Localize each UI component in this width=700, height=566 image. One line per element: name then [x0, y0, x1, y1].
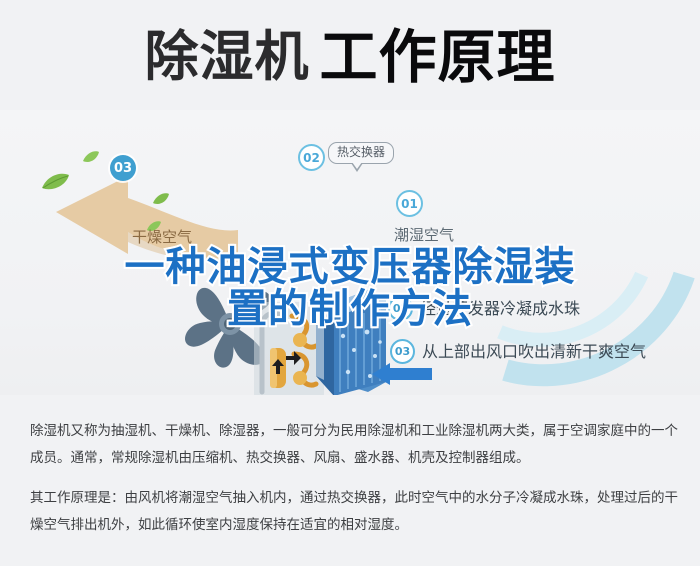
step-badge-01: 01 [396, 190, 423, 217]
step-number-03: 03 [390, 339, 415, 364]
article-body: 除湿机又称为抽湿机、干燥机、除湿器，一般可分为民用除湿机和工业除湿机两大类，属于… [30, 418, 678, 539]
step-number-02: 02 [388, 296, 413, 321]
body-paragraph-1: 除湿机又称为抽湿机、干燥机、除湿器，一般可分为民用除湿机和工业除湿机两大类，属于… [30, 418, 678, 472]
step-badge-03: 03 [110, 155, 136, 181]
heat-exchanger-callout: 热交换器 [328, 142, 394, 164]
label-dry-air: 干燥空气 [132, 230, 192, 245]
step-text-03: 从上部出风口吹出清新干爽空气 [422, 344, 646, 360]
page-title: 除湿机 工作原理 [0, 18, 700, 96]
leaf-icon [82, 150, 100, 164]
step-badge-02: 02 [298, 144, 325, 171]
leaf-icon [152, 192, 170, 206]
body-paragraph-2: 其工作原理是：由风机将潮湿空气抽入机内，通过热交换器，此时空气中的水分子冷凝成水… [30, 485, 678, 539]
leaf-icon [40, 172, 70, 192]
step-item-03: 03 从上部出风口吹出清新干爽空气 [390, 339, 690, 364]
dry-air-arrow-icon [48, 172, 238, 264]
page-title-primary: 除湿机 [144, 30, 309, 84]
step-text-02: 经过蒸发器冷凝成水珠 [420, 301, 580, 317]
step-list: 02 经过蒸发器冷凝成水珠 03 从上部出风口吹出清新干爽空气 [390, 296, 690, 382]
page-root: 除湿机 工作原理 [0, 0, 700, 566]
step-item-02: 02 经过蒸发器冷凝成水珠 [388, 296, 688, 321]
page-title-secondary: 工作原理 [319, 28, 555, 86]
label-humid-air: 潮湿空气 [394, 228, 454, 243]
